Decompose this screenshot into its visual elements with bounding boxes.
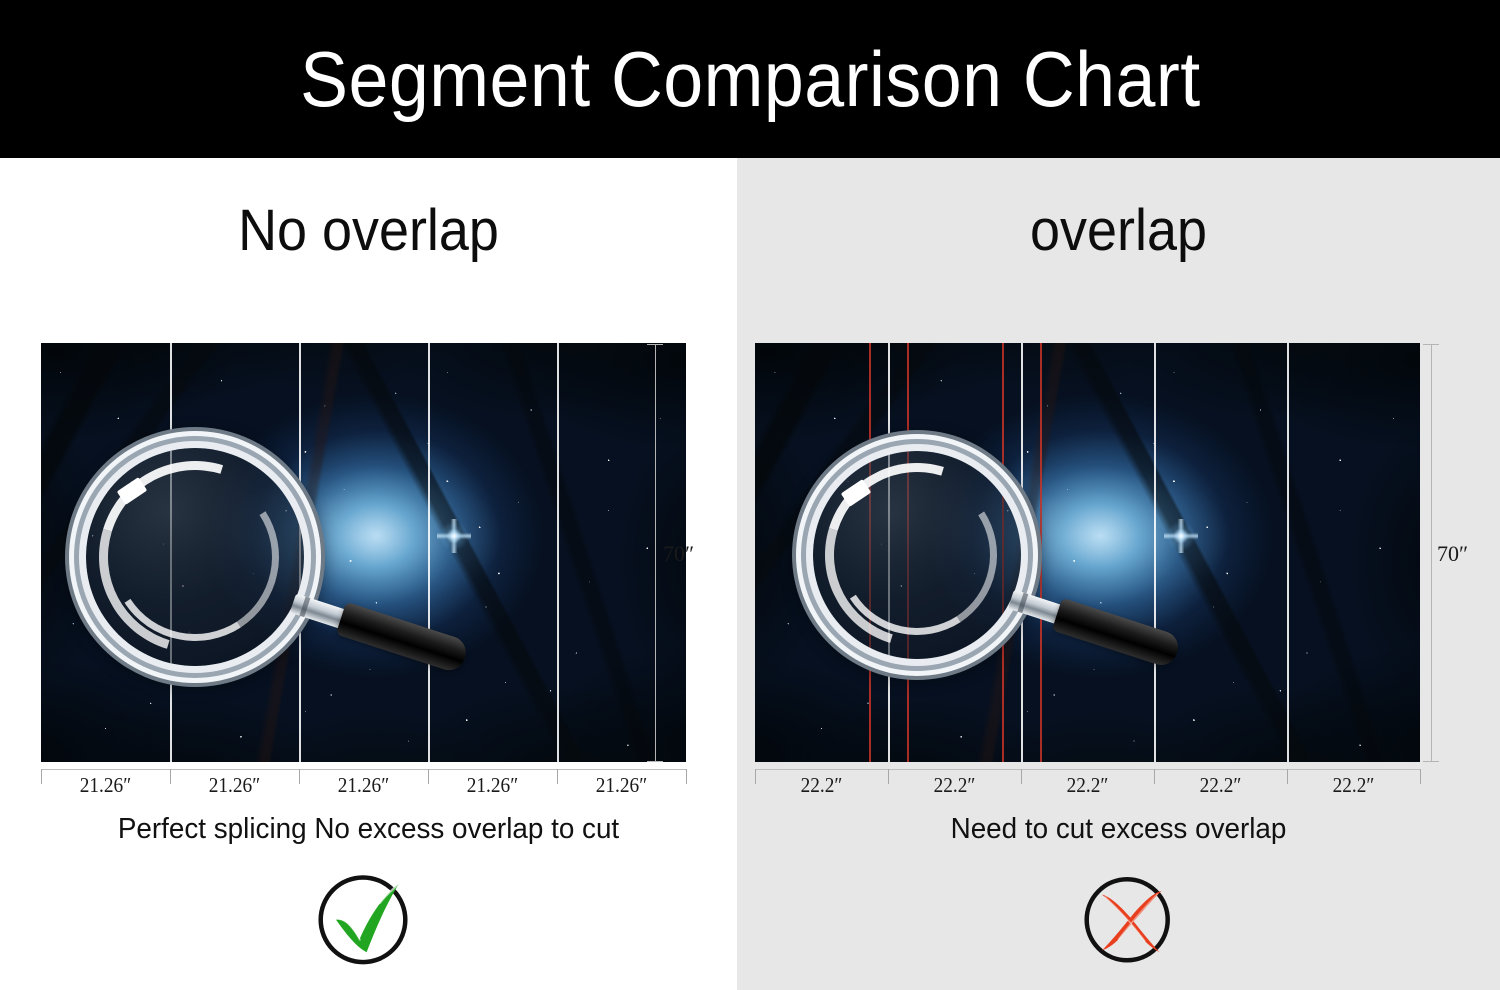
width-dimension-tick: [1420, 769, 1421, 784]
panel-heading-overlap: overlap: [764, 202, 1474, 260]
height-dimension-cap-bottom: [1423, 761, 1439, 762]
height-dimension-line: [655, 344, 656, 761]
segment-width-label: 22.2″: [1026, 773, 1148, 798]
width-dimension-tick: [557, 769, 558, 784]
segment-width-label: 21.26″: [562, 773, 681, 798]
width-dimension-tick: [1154, 769, 1155, 784]
height-dimension-cap-top: [1423, 344, 1439, 345]
width-dimension-tick: [1287, 769, 1288, 784]
segment-width-label: 22.2″: [893, 773, 1015, 798]
panel-heading-no-overlap: No overlap: [26, 202, 711, 260]
height-dimension-label: 70″: [1437, 541, 1468, 567]
segment-width-label: 21.26″: [433, 773, 552, 798]
panel-caption-overlap: Need to cut excess overlap: [752, 813, 1484, 846]
milky-way-glow: [755, 343, 1420, 762]
segment-width-label: 22.2″: [1292, 773, 1414, 798]
width-dimension-tick: [170, 769, 171, 784]
starry-forest-photo: [41, 343, 686, 762]
panel-overlap: overlap: [737, 158, 1500, 990]
comparison-panels: No overlap: [0, 158, 1500, 990]
milky-way-glow: [41, 343, 686, 762]
segment-width-label: 22.2″: [1159, 773, 1281, 798]
bright-star-icon: [437, 519, 471, 553]
segment-width-label: 21.26″: [175, 773, 294, 798]
height-dimension-label: 70″: [663, 541, 694, 567]
mural-preview-overlap: [755, 343, 1420, 762]
width-dimension-tick: [299, 769, 300, 784]
width-dimension-tick: [1021, 769, 1022, 784]
bright-star-icon: [1164, 519, 1198, 553]
segment-width-label: 21.26″: [304, 773, 423, 798]
panel-no-overlap: No overlap: [0, 158, 737, 990]
width-dimension-tick: [755, 769, 756, 784]
starry-forest-photo: [755, 343, 1420, 762]
red-cross-icon: [1075, 864, 1183, 972]
chart-title-band: Segment Comparison Chart: [0, 0, 1500, 158]
panel-caption-no-overlap: Perfect splicing No excess overlap to cu…: [15, 813, 723, 846]
segment-width-label: 22.2″: [760, 773, 882, 798]
width-dimension-tick: [686, 769, 687, 784]
width-dimension-line: [755, 769, 1420, 770]
green-check-icon: [309, 864, 417, 972]
mural-preview-no-overlap: [41, 343, 686, 762]
width-dimension-tick: [428, 769, 429, 784]
width-dimension-tick: [41, 769, 42, 784]
segment-width-label: 21.26″: [46, 773, 165, 798]
height-dimension-cap-top: [647, 344, 663, 345]
segment-comparison-chart: Segment Comparison Chart No overlap: [0, 0, 1500, 990]
width-dimension-line: [41, 769, 686, 770]
width-dimension-tick: [888, 769, 889, 784]
height-dimension-line: [1431, 344, 1432, 761]
page-title: Segment Comparison Chart: [300, 40, 1200, 118]
height-dimension-cap-bottom: [647, 761, 663, 762]
